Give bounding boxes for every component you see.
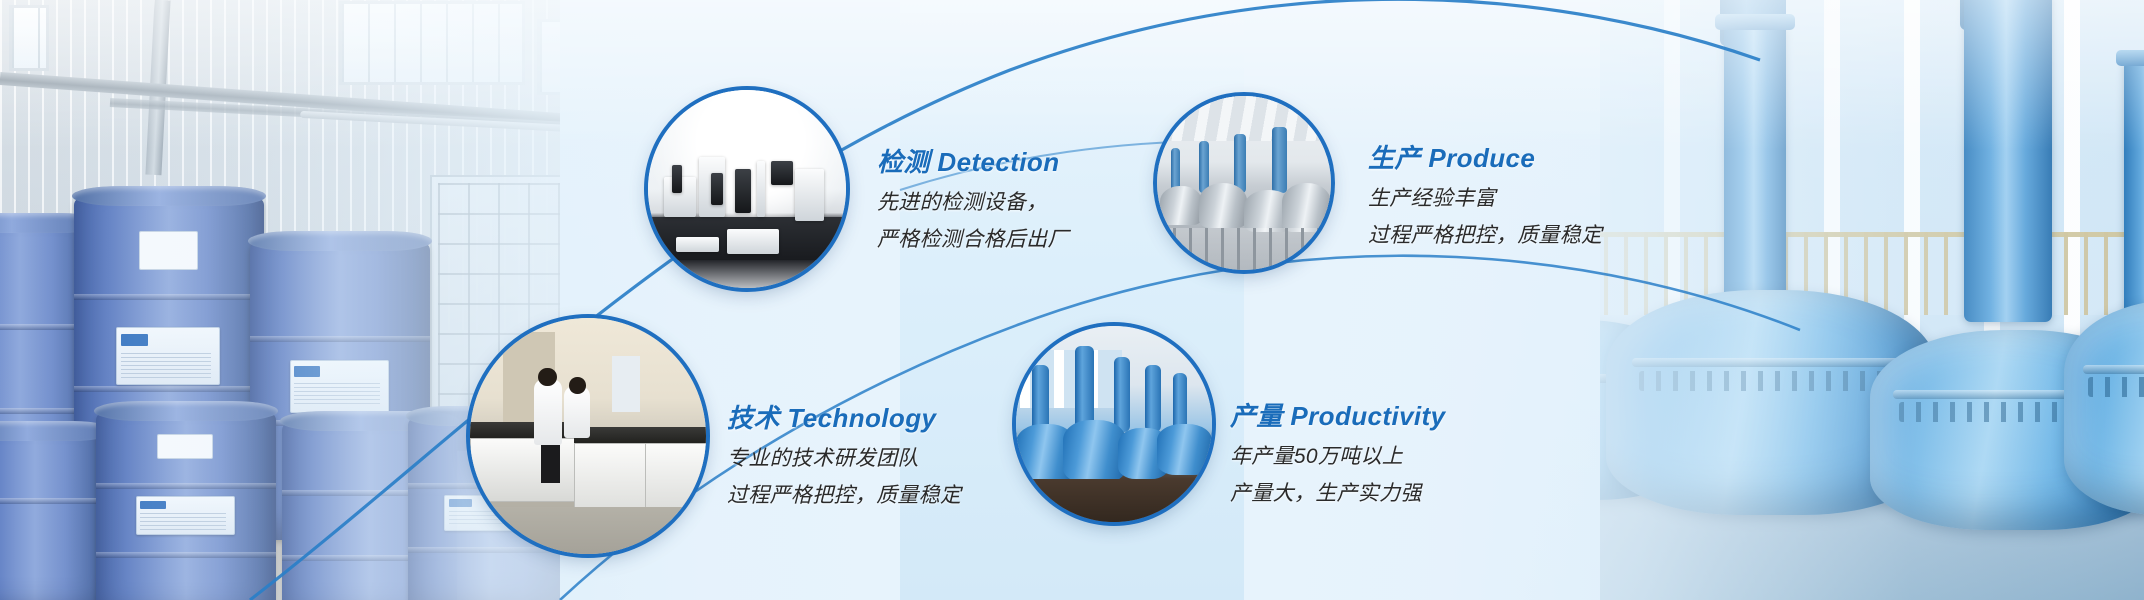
feature-heading-technology: 技术 Technology xyxy=(727,398,961,435)
feature-line-productivity-2: 产量大，生产实力强 xyxy=(1230,477,1445,507)
feature-line-detection-1: 先进的检测设备， xyxy=(877,186,1069,216)
feature-line-detection-2: 严格检测合格后出厂 xyxy=(877,223,1069,253)
feature-line-productivity-1: 年产量50万吨以上 xyxy=(1230,440,1445,470)
feature-text-productivity: 产量 Productivity 年产量50万吨以上 产量大，生产实力强 xyxy=(1230,396,1445,507)
capability-banner: 检测 Detection 先进的检测设备， 严格检测合格后出厂 生产 Produ… xyxy=(0,0,2144,600)
technology-laboratory-photo xyxy=(470,318,706,554)
productivity-reactors-photo xyxy=(1016,326,1212,522)
feature-text-produce: 生产 Produce 生产经验丰富 过程严格把控，质量稳定 xyxy=(1368,138,1602,249)
feature-line-produce-2: 过程严格把控，质量稳定 xyxy=(1368,219,1602,249)
feature-text-detection: 检测 Detection 先进的检测设备， 严格检测合格后出厂 xyxy=(877,142,1069,253)
photo-node-technology[interactable] xyxy=(470,318,706,554)
feature-heading-detection: 检测 Detection xyxy=(877,142,1069,179)
detection-lab-photo xyxy=(648,90,846,288)
photo-node-productivity[interactable] xyxy=(1016,326,1212,522)
lab-coat xyxy=(534,379,562,445)
top-highlight-overlay xyxy=(0,0,2144,150)
feature-line-technology-2: 过程严格把控，质量稳定 xyxy=(727,479,961,509)
feature-text-technology: 技术 Technology 专业的技术研发团队 过程严格把控，质量稳定 xyxy=(727,398,961,509)
feature-heading-productivity: 产量 Productivity xyxy=(1230,396,1445,433)
feature-heading-produce: 生产 Produce xyxy=(1368,138,1602,175)
lab-coat xyxy=(564,386,590,438)
feature-line-produce-1: 生产经验丰富 xyxy=(1368,182,1602,212)
feature-line-technology-1: 专业的技术研发团队 xyxy=(727,442,961,472)
production-workshop-photo xyxy=(1157,96,1331,270)
photo-node-produce[interactable] xyxy=(1157,96,1331,270)
photo-node-detection[interactable] xyxy=(648,90,846,288)
